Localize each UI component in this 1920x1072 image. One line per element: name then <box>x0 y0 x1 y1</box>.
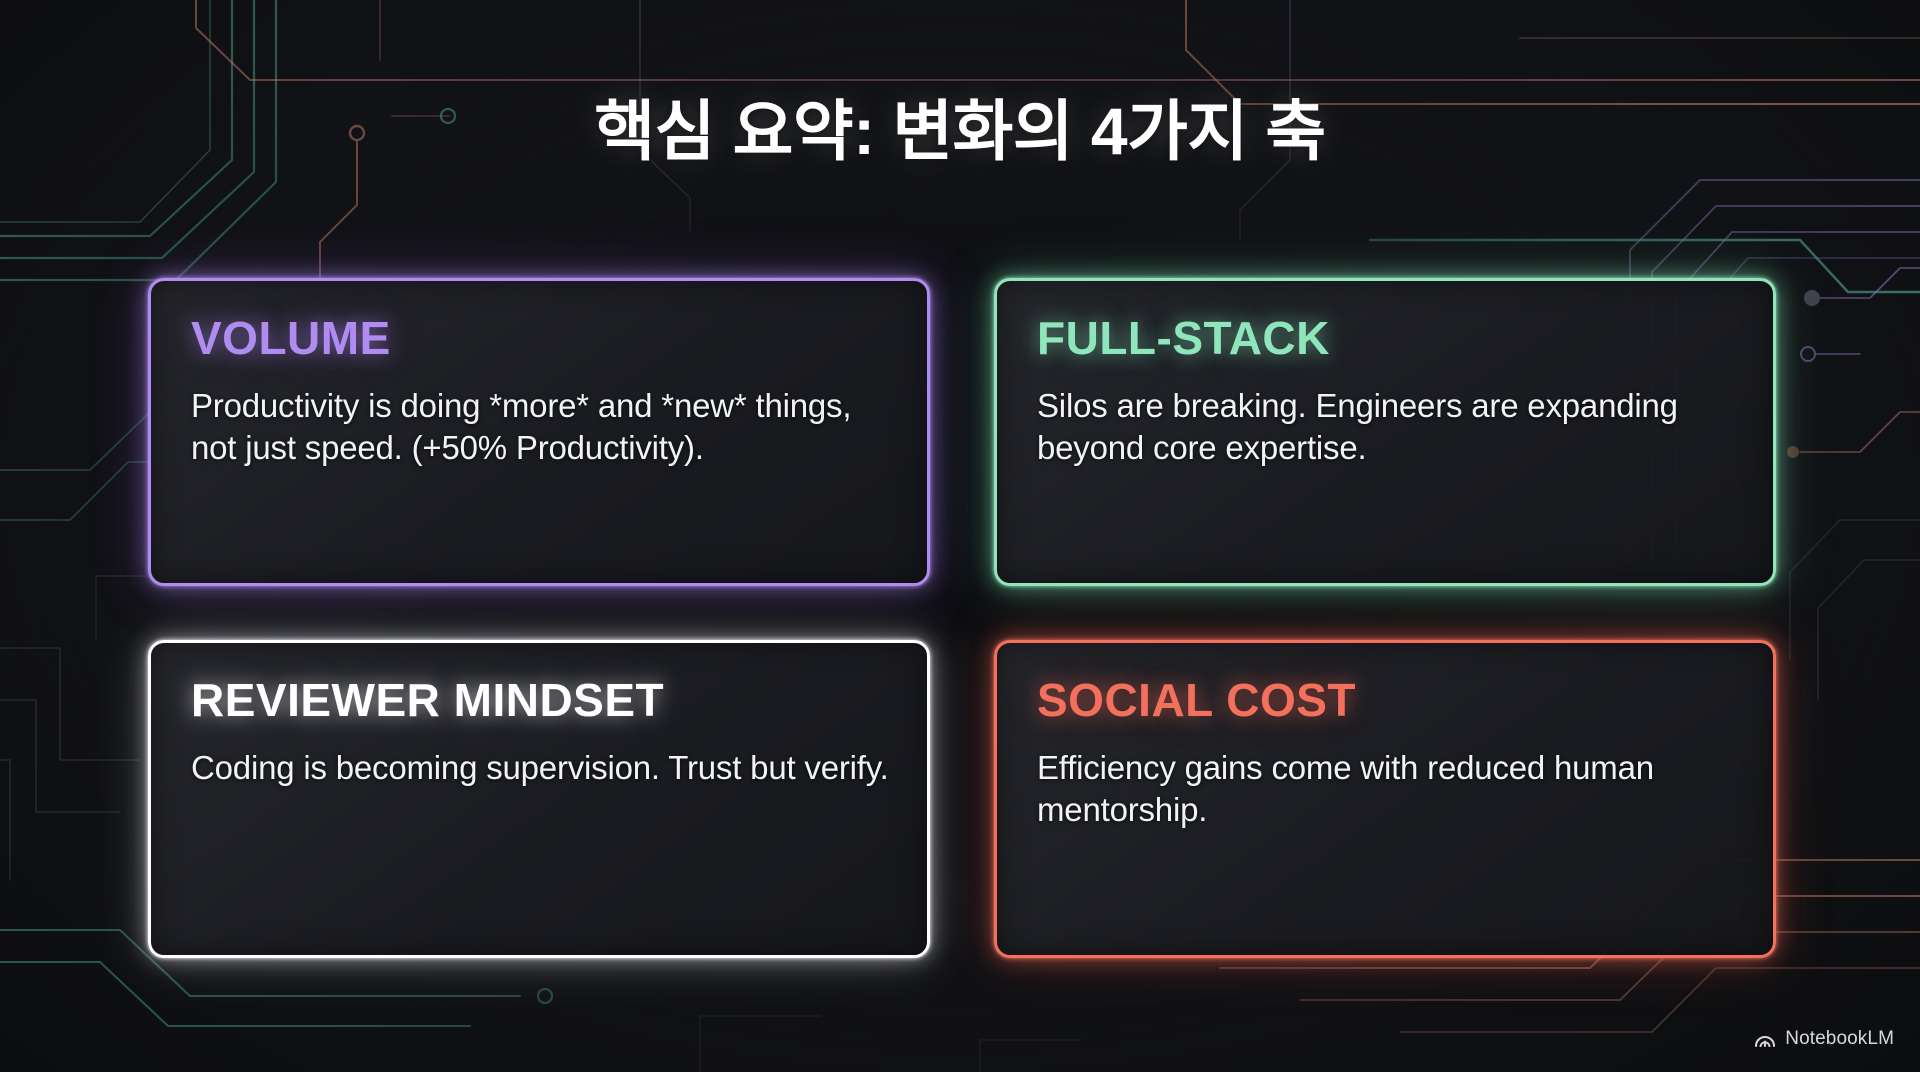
page-title: 핵심 요약: 변화의 4가지 축 <box>0 78 1920 174</box>
card-reviewer-mindset[interactable]: REVIEWER MINDSET Coding is becoming supe… <box>148 640 930 958</box>
card-social-cost[interactable]: SOCIAL COST Efficiency gains come with r… <box>994 640 1776 958</box>
card-volume[interactable]: VOLUME Productivity is doing *more* and … <box>148 278 930 586</box>
card-title-reviewer-mindset: REVIEWER MINDSET <box>191 677 889 723</box>
card-body-social-cost: Efficiency gains come with reduced human… <box>1037 747 1735 831</box>
card-title-volume: VOLUME <box>191 315 889 361</box>
card-body-volume: Productivity is doing *more* and *new* t… <box>191 385 889 469</box>
card-body-full-stack: Silos are breaking. Engineers are expand… <box>1037 385 1735 469</box>
summary-card-grid: VOLUME Productivity is doing *more* and … <box>148 278 1776 958</box>
watermark: NotebookLM <box>1754 1028 1894 1050</box>
slide-canvas: 핵심 요약: 변화의 4가지 축 VOLUME Productivity is … <box>0 0 1920 1072</box>
card-title-full-stack: FULL-STACK <box>1037 315 1735 361</box>
watermark-label: NotebookLM <box>1785 1028 1894 1050</box>
notebooklm-arc-icon <box>1754 1030 1776 1048</box>
card-body-reviewer-mindset: Coding is becoming supervision. Trust bu… <box>191 747 889 789</box>
card-full-stack[interactable]: FULL-STACK Silos are breaking. Engineers… <box>994 278 1776 586</box>
card-title-social-cost: SOCIAL COST <box>1037 677 1735 723</box>
